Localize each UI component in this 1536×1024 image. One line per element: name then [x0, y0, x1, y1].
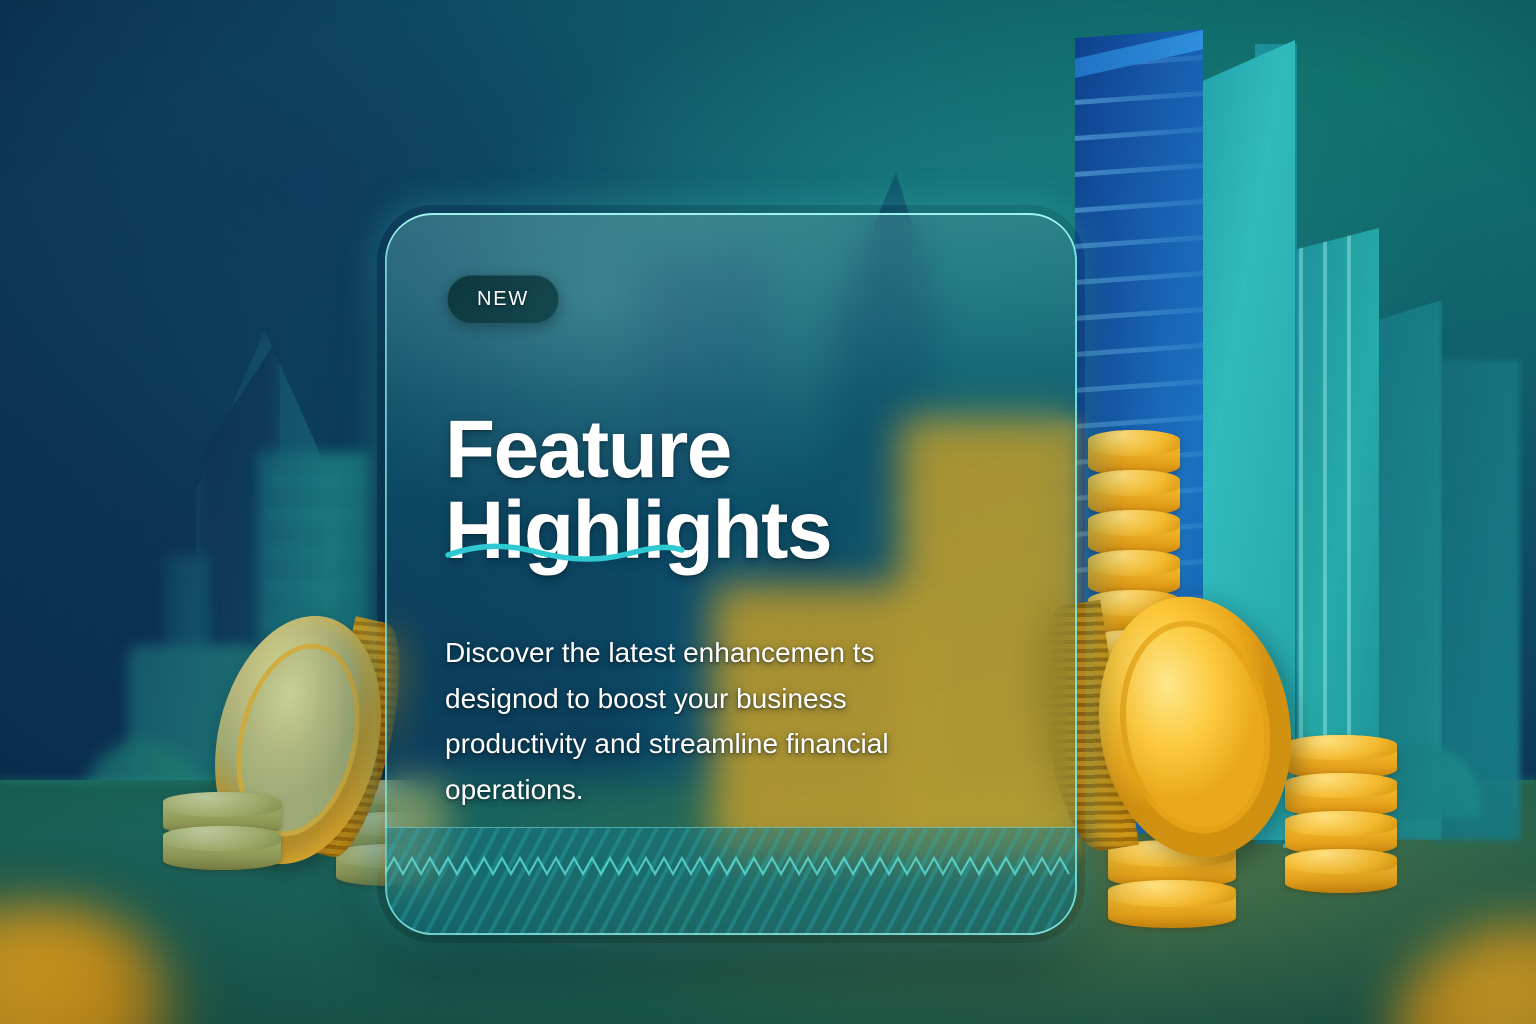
banner-stage: NEW Feature Highlights Discover the late…: [0, 0, 1536, 1024]
building-rib: [265, 478, 364, 481]
building-rib: [265, 514, 364, 517]
building-rib: [1075, 163, 1203, 177]
coin: [1285, 849, 1397, 893]
building-rib: [1075, 199, 1203, 213]
wavy-divider-icon: [445, 538, 685, 566]
headline-line-1: Feature: [445, 404, 731, 495]
new-badge-label: NEW: [477, 288, 529, 310]
building-rib: [1075, 415, 1203, 429]
building-rib: [1075, 91, 1203, 105]
building-rib: [1075, 235, 1203, 249]
feature-highlights-card: NEW Feature Highlights Discover the late…: [385, 213, 1077, 935]
building-rib: [1075, 271, 1203, 285]
waveform-icon: [385, 853, 1077, 879]
building-rib: [1075, 343, 1203, 357]
building-rib: [1075, 127, 1203, 141]
building-rib: [1075, 307, 1203, 321]
card-body-text: Discover the latest enhancemen ts design…: [445, 630, 975, 813]
card-bottom-band: [385, 827, 1077, 935]
building-rib: [265, 550, 364, 553]
coin-left-front-stack-2: [163, 826, 281, 870]
coin: [1108, 880, 1236, 928]
new-badge: NEW: [447, 275, 559, 324]
building-rib: [265, 586, 364, 589]
building-rib: [1075, 379, 1203, 393]
